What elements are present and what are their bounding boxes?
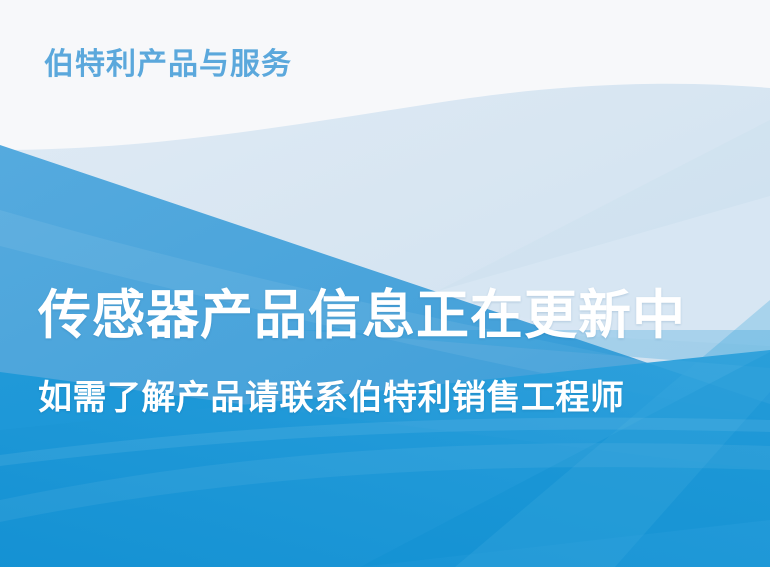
product-banner: 伯特利产品与服务 传感器产品信息正在更新中 如需了解产品请联系伯特利销售工程师 [0,0,770,567]
background-wave-artwork [0,0,770,567]
headline-secondary: 如需了解产品请联系伯特利销售工程师 [38,379,732,418]
page-title: 伯特利产品与服务 [44,46,292,84]
headline-block: 传感器产品信息正在更新中 如需了解产品请联系伯特利销售工程师 [0,286,770,418]
headline-primary: 传感器产品信息正在更新中 [38,286,732,345]
